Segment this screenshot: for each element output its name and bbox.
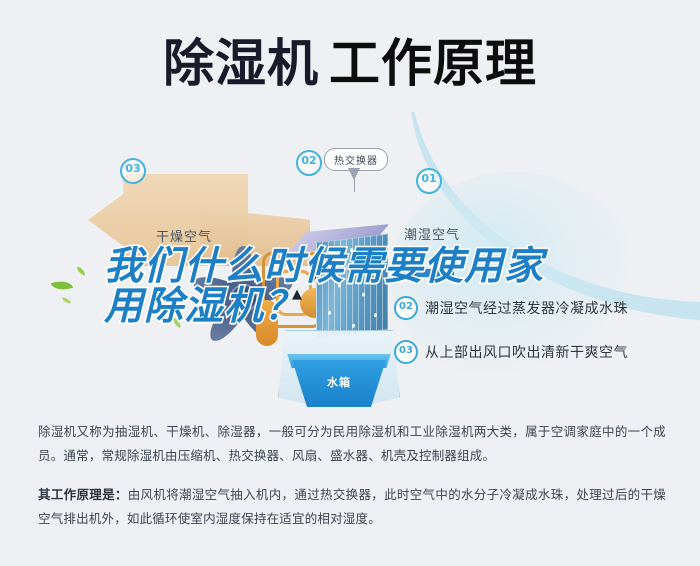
leaf-icon xyxy=(75,266,87,275)
body-paragraph-1: 除湿机又称为抽湿机、干燥机、除湿器，一般可分为民用除湿机和工业除湿机两大类，属于… xyxy=(38,420,666,469)
step-list: 02 潮湿空气经过蒸发器冷凝成水珠 03 从上部出风口吹出清新干爽空气 xyxy=(394,296,694,384)
step-badge-02: 02 xyxy=(394,296,418,320)
leaf-icon xyxy=(51,277,73,294)
body-paragraph-2-lead: 其工作原理是： xyxy=(38,487,128,502)
dry-air-label: 干燥空气 xyxy=(156,226,212,245)
page-root: 除湿机工作原理 ▲ ▼ ▶ xyxy=(0,0,700,566)
diagram-badge-03: 03 xyxy=(120,158,146,184)
page-title-part1: 除湿机 xyxy=(163,35,319,94)
humid-air-label: 潮湿空气 xyxy=(404,224,460,243)
callout-stem xyxy=(354,178,355,192)
water-tank-label: 水箱 xyxy=(288,374,390,390)
page-title: 除湿机工作原理 xyxy=(0,22,700,96)
diagram-badge-02: 02 xyxy=(296,150,322,176)
leaf-icon xyxy=(62,298,71,304)
step-item: 02 潮湿空气经过蒸发器冷凝成水珠 xyxy=(394,296,694,320)
page-title-part2: 工作原理 xyxy=(329,35,537,94)
headline-line-1: 我们什么时候需要使用家 xyxy=(104,247,624,287)
body-paragraph-2: 其工作原理是：由风机将潮湿空气抽入机内，通过热交换器，此时空气中的水分子冷凝成水… xyxy=(38,483,666,532)
diagram-badge-01: 01 xyxy=(416,168,442,194)
body-paragraph-2-text: 由风机将潮湿空气抽入机内，通过热交换器，此时空气中的水分子冷凝成水珠，处理过后的… xyxy=(38,487,666,526)
step-text-02: 潮湿空气经过蒸发器冷凝成水珠 xyxy=(425,298,628,318)
step-text-03: 从上部出风口吹出清新干爽空气 xyxy=(425,342,628,362)
body-copy: 除湿机又称为抽湿机、干燥机、除湿器，一般可分为民用除湿机和工业除湿机两大类，属于… xyxy=(38,420,666,546)
step-badge-03: 03 xyxy=(394,340,418,364)
step-item: 03 从上部出风口吹出清新干爽空气 xyxy=(394,340,694,364)
